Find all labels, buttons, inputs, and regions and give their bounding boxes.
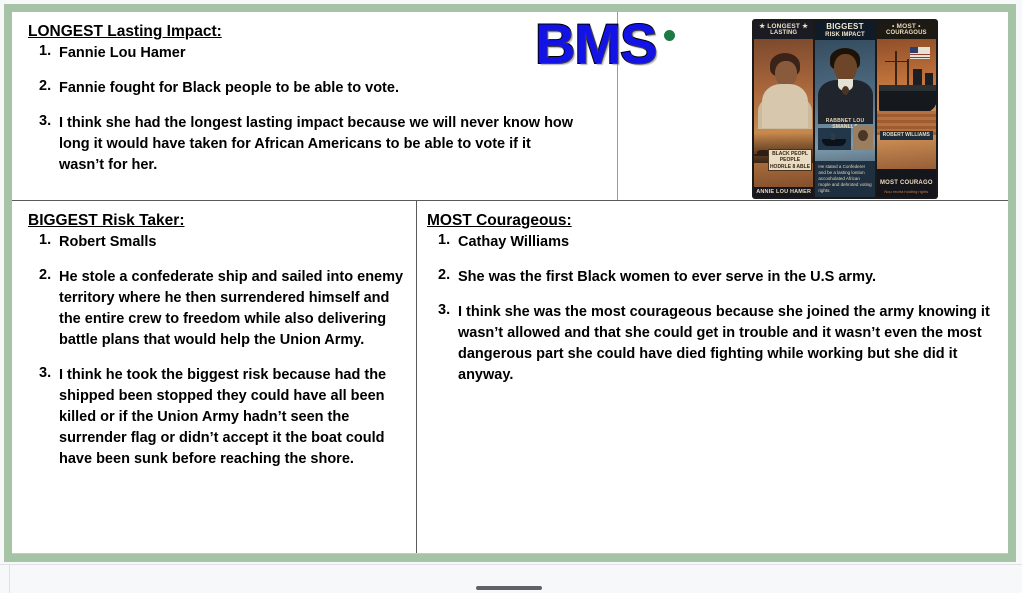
poster-panel-most-courageous: • MOST • COURAGOUS ROBERT WILLIAMS MOST	[877, 21, 936, 197]
section-list: 1. Fannie Lou Hamer 2. Fannie fought for…	[28, 43, 608, 176]
list-item-text: I think she had the longest lasting impa…	[59, 113, 579, 176]
section-most-courageous: MOST Courageous: 1. Cathay Williams 2. S…	[427, 212, 1008, 386]
poster-panel-art: ROBERT WILLIAMS MOST COURAGO Nou reorta …	[877, 39, 936, 197]
section-longest-lasting-impact: LONGEST Lasting Impact: 1. Fannie Lou Ha…	[28, 23, 608, 176]
section-heading: MOST Courageous:	[427, 212, 1008, 230]
poster-panel-caption-sub: Nou reorta holding rights	[877, 189, 936, 194]
section-biggest-risk-taker: BIGGEST Risk Taker: 1. Robert Smalls 2. …	[28, 212, 418, 470]
poster-panel-title-main: BIGGEST	[826, 22, 863, 31]
poster-panel-subtitle: LASTING	[754, 30, 813, 37]
poster-panel-caption: MOST COURAGO Nou reorta holding rights	[877, 169, 936, 197]
poster-panel-title-main: ★ LONGEST ★	[759, 23, 808, 30]
list-item: 1. Robert Smalls	[28, 232, 418, 253]
poster-panel-subtitle: RISK IMPACT	[815, 32, 874, 39]
list-item-text: I think she was the most courageous beca…	[458, 302, 998, 386]
poster-panel-subtitle: COURAGOUS	[877, 30, 936, 37]
list-item-text: Robert Smalls	[59, 232, 404, 253]
section-heading: BIGGEST Risk Taker:	[28, 212, 418, 230]
list-item-text: He stole a confederate ship and sailed i…	[59, 267, 404, 351]
list-item-number: 3.	[427, 302, 458, 318]
ship-hull	[879, 91, 936, 113]
poster-panel-title: ★ LONGEST ★ LASTING	[754, 21, 813, 39]
left-margin-rule	[9, 565, 10, 593]
section-heading: LONGEST Lasting Impact:	[28, 23, 608, 41]
list-item-number: 2.	[427, 267, 458, 283]
list-item-number: 1.	[427, 232, 458, 248]
portrait-face	[834, 54, 857, 82]
portrait-blouse	[762, 84, 808, 128]
list-item-text: She was the first Black women to ever se…	[458, 267, 998, 288]
logo-green-dot-icon	[664, 30, 675, 41]
list-item: 1. Cathay Williams	[427, 232, 1008, 253]
list-item: 3. I think she had the longest lasting i…	[28, 113, 608, 176]
poster-panel-longest-lasting: ★ LONGEST ★ LASTING BLACK PEOPL PEOPLE H…	[754, 21, 813, 197]
list-item-text: Fannie fought for Black people to be abl…	[59, 78, 579, 99]
bms-logo: BMS	[535, 16, 656, 72]
list-item-number: 2.	[28, 267, 59, 283]
list-item: 1. Fannie Lou Hamer	[28, 43, 608, 64]
steamship-illustration	[818, 128, 851, 150]
protest-sign: BLACK PEOPL PEOPLE HODRLE 8 ABLE TO VOTE	[768, 149, 812, 171]
list-item-number: 1.	[28, 43, 59, 59]
list-item: 2. She was the first Black women to ever…	[427, 267, 1008, 288]
list-item-number: 1.	[28, 232, 59, 248]
list-item-text: Fannie Lou Hamer	[59, 43, 579, 64]
list-item-text: I think he took the biggest risk because…	[59, 365, 404, 470]
poster-panel-caption: ANNIE LOU HAMER	[754, 187, 813, 197]
poster-panel-title: • MOST • COURAGOUS	[877, 21, 936, 39]
list-item: 3. I think he took the biggest risk beca…	[28, 365, 418, 470]
list-item-number: 3.	[28, 365, 59, 381]
list-item: 2. Fannie fought for Black people to be …	[28, 78, 608, 99]
inset-portrait	[853, 126, 873, 150]
slide-frame: LONGEST Lasting Impact: 1. Fannie Lou Ha…	[4, 4, 1016, 562]
triptych-poster-image: ★ LONGEST ★ LASTING BLACK PEOPL PEOPLE H…	[752, 19, 938, 199]
ship-yardarm	[885, 61, 909, 63]
section-list: 1. Robert Smalls 2. He stole a confedera…	[28, 232, 418, 470]
poster-panel-body-text: He stated a Confederer and be a lasting …	[815, 161, 874, 197]
portrait-face	[775, 61, 797, 87]
list-item-number: 2.	[28, 78, 59, 94]
poster-panel-name: ROBERT WILLIAMS	[880, 131, 933, 141]
poster-panel-title: BIGGEST RISK IMPACT	[815, 21, 874, 40]
list-item-text: Cathay Williams	[458, 232, 998, 253]
list-item: 3. I think she was the most courageous b…	[427, 302, 1008, 386]
poster-panel-biggest-risk: BIGGEST RISK IMPACT RABBNET LOU SMANLLS …	[815, 21, 874, 197]
list-item: 2. He stole a confederate ship and saile…	[28, 267, 418, 351]
poster-panel-title-main: • MOST •	[892, 23, 921, 30]
bottom-scroll-handle[interactable]	[476, 586, 542, 590]
slide-content: LONGEST Lasting Impact: 1. Fannie Lou Ha…	[12, 12, 1008, 554]
us-flag-icon	[910, 47, 930, 59]
poster-panel-caption-main: MOST COURAGO	[880, 180, 933, 186]
poster-panel-art: RABBNET LOU SMANLLS He stated a Confeder…	[815, 40, 874, 197]
poster-panel-art: BLACK PEOPL PEOPLE HODRLE 8 ABLE TO VOTE	[754, 39, 813, 187]
section-list: 1. Cathay Williams 2. She was the first …	[427, 232, 1008, 386]
list-item-number: 3.	[28, 113, 59, 129]
